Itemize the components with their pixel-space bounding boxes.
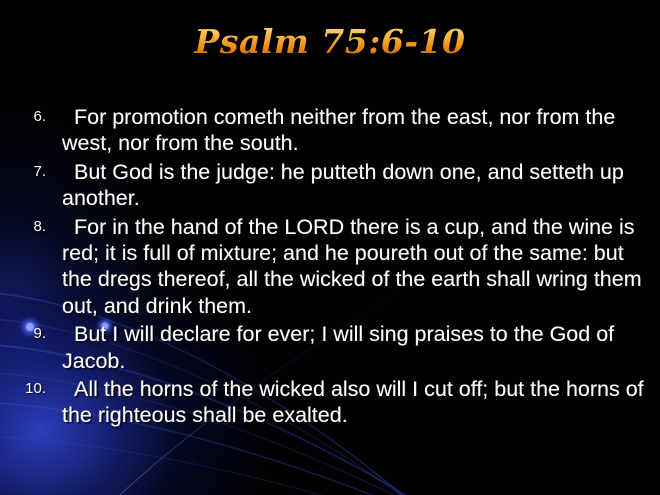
verse-number: 9. xyxy=(0,324,46,344)
verse-number: 10. xyxy=(0,379,46,399)
verse-list: 6. For promotion cometh neither from the… xyxy=(0,104,660,431)
verse-item: 8. For in the hand of the LORD there is … xyxy=(0,214,660,320)
verse-item: 10. All the horns of the wicked also wil… xyxy=(0,376,660,429)
verse-item: 6. For promotion cometh neither from the… xyxy=(0,104,660,157)
verse-item: 7. But God is the judge: he putteth down… xyxy=(0,159,660,212)
verse-text: For promotion cometh neither from the ea… xyxy=(62,104,644,157)
presentation-slide: Psalm 75:6-10 6. For promotion cometh ne… xyxy=(0,0,660,495)
verse-text: But God is the judge: he putteth down on… xyxy=(62,159,644,212)
verse-text: For in the hand of the LORD there is a c… xyxy=(62,214,644,320)
slide-title: Psalm 75:6-10 xyxy=(0,22,660,61)
verse-number: 7. xyxy=(0,162,46,182)
verse-text: But I will declare for ever; I will sing… xyxy=(62,321,644,374)
verse-item: 9. But I will declare for ever; I will s… xyxy=(0,321,660,374)
verse-number: 6. xyxy=(0,107,46,127)
slide-content: Psalm 75:6-10 6. For promotion cometh ne… xyxy=(0,0,660,495)
verse-text: All the horns of the wicked also will I … xyxy=(62,376,644,429)
verse-number: 8. xyxy=(0,217,46,237)
